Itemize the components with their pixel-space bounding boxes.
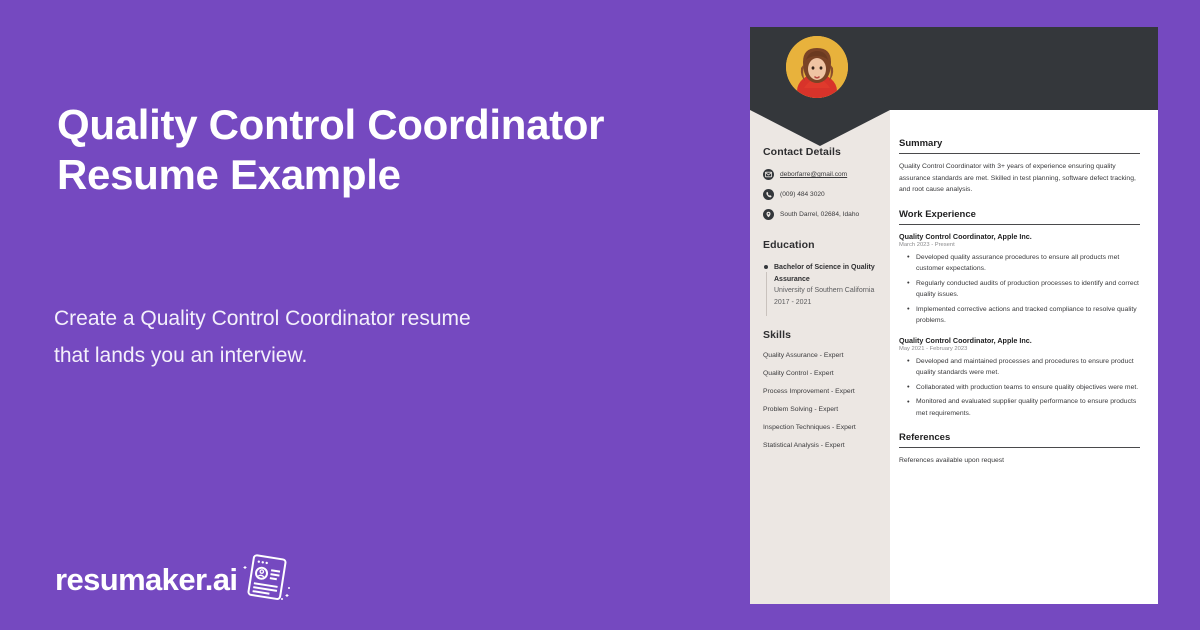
skills-heading: Skills (763, 329, 878, 341)
resume-sidebar: Contact Details deborfarre@gmail.com (00… (750, 110, 890, 604)
skill-item: Quality Control - Expert (763, 370, 878, 377)
timeline-line (766, 272, 767, 316)
summary-text: Quality Control Coordinator with 3+ year… (899, 161, 1140, 196)
promo-subtitle: Create a Quality Control Coordinator res… (54, 300, 474, 374)
contact-row-email[interactable]: deborfarre@gmail.com (763, 169, 878, 180)
contact-email[interactable]: deborfarre@gmail.com (780, 169, 847, 180)
resume-document-icon (239, 552, 293, 607)
summary-section: Summary Quality Control Coordinator with… (899, 138, 1140, 196)
skill-item: Process Improvement - Expert (763, 388, 878, 395)
education-timeline (763, 262, 774, 308)
phone-icon (763, 189, 774, 200)
job-bullet: Developed quality assurance procedures t… (916, 252, 1140, 275)
references-section: References References available upon req… (899, 432, 1140, 467)
job-dates: May 2021 - February 2023 (899, 346, 1140, 352)
education-dates: 2017 - 2021 (774, 297, 878, 309)
skill-item: Inspection Techniques - Expert (763, 424, 878, 431)
education-degree: Bachelor of Science in Quality Assurance (774, 262, 878, 285)
job-bullet: Developed and maintained processes and p… (916, 356, 1140, 379)
job-bullet: Regularly conducted audits of production… (916, 278, 1140, 301)
envelope-icon (763, 169, 774, 180)
contact-row-location: South Darrel, 02684, Idaho (763, 209, 878, 220)
location-pin-icon (763, 209, 774, 220)
education-school: University of Southern California (774, 285, 878, 297)
job-bullet: Monitored and evaluated supplier quality… (916, 396, 1140, 419)
job-entry: Quality Control Coordinator, Apple Inc. … (899, 336, 1140, 420)
resume-main-column: Summary Quality Control Coordinator with… (890, 110, 1158, 480)
page-title: Quality Control Coordinator Resume Examp… (57, 100, 697, 200)
job-entry: Quality Control Coordinator, Apple Inc. … (899, 232, 1140, 327)
avatar (786, 36, 848, 98)
education-heading: Education (763, 239, 878, 251)
contact-details-heading: Contact Details (763, 146, 878, 158)
promo-panel: Quality Control Coordinator Resume Examp… (0, 0, 750, 630)
job-dates: March 2023 - Present (899, 242, 1140, 248)
resume-preview-card[interactable]: Debor Farre Quality Control Coordinator … (750, 27, 1158, 604)
skill-item: Problem Solving - Expert (763, 406, 878, 413)
contact-row-phone: (009) 484 3020 (763, 189, 878, 200)
logo-wordmark: resumaker.ai (55, 562, 237, 598)
education-entry: Bachelor of Science in Quality Assurance… (763, 262, 878, 308)
contact-phone: (009) 484 3020 (780, 189, 825, 200)
resumaker-logo[interactable]: resumaker.ai (55, 552, 293, 607)
work-experience-section: Work Experience Quality Control Coordina… (899, 209, 1140, 420)
timeline-dot-icon (764, 265, 768, 269)
job-bullet: Implemented corrective actions and track… (916, 304, 1140, 327)
skill-item: Quality Assurance - Expert (763, 352, 878, 359)
contact-location: South Darrel, 02684, Idaho (780, 209, 859, 220)
job-bullet: Collaborated with production teams to en… (916, 382, 1140, 394)
skill-item: Statistical Analysis - Expert (763, 442, 878, 449)
job-title: Quality Control Coordinator, Apple Inc. (899, 232, 1140, 241)
work-experience-heading: Work Experience (899, 209, 1140, 225)
job-title: Quality Control Coordinator, Apple Inc. (899, 336, 1140, 345)
references-heading: References (899, 432, 1140, 448)
references-text: References available upon request (899, 455, 1140, 467)
summary-heading: Summary (899, 138, 1140, 154)
